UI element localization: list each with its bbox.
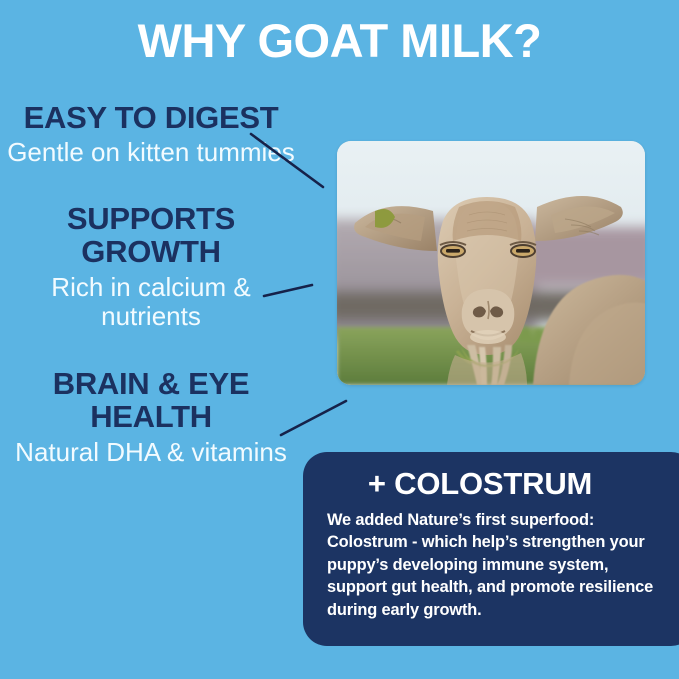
benefit-heading: SUPPORTS GROWTH: [6, 202, 296, 269]
benefit-subtext: Rich in calcium & nutrients: [6, 273, 296, 331]
benefit-item-brain-and-eye-health: BRAIN & EYE HEALTH Natural DHA & vitamin…: [6, 367, 296, 467]
page-title: WHY GOAT MILK?: [0, 16, 679, 67]
benefit-subtext: Gentle on kitten tummies: [6, 138, 296, 167]
benefit-item-easy-to-digest: EASY TO DIGEST Gentle on kitten tummies: [6, 101, 296, 168]
goat-photo: [337, 141, 645, 385]
benefit-subtext: Natural DHA & vitamins: [6, 438, 296, 467]
colostrum-body: We added Nature’s first superfood: Colos…: [327, 509, 669, 622]
benefits-list: EASY TO DIGEST Gentle on kitten tummies …: [6, 101, 296, 485]
benefit-heading: EASY TO DIGEST: [6, 101, 296, 134]
infographic-canvas: WHY GOAT MILK? EASY TO DIGEST Gentle on …: [0, 0, 679, 679]
benefit-item-supports-growth: SUPPORTS GROWTH Rich in calcium & nutrie…: [6, 202, 296, 331]
colostrum-panel: + COLOSTRUM We added Nature’s first supe…: [303, 452, 679, 646]
colostrum-title: + COLOSTRUM: [327, 468, 669, 501]
benefit-heading: BRAIN & EYE HEALTH: [6, 367, 296, 434]
